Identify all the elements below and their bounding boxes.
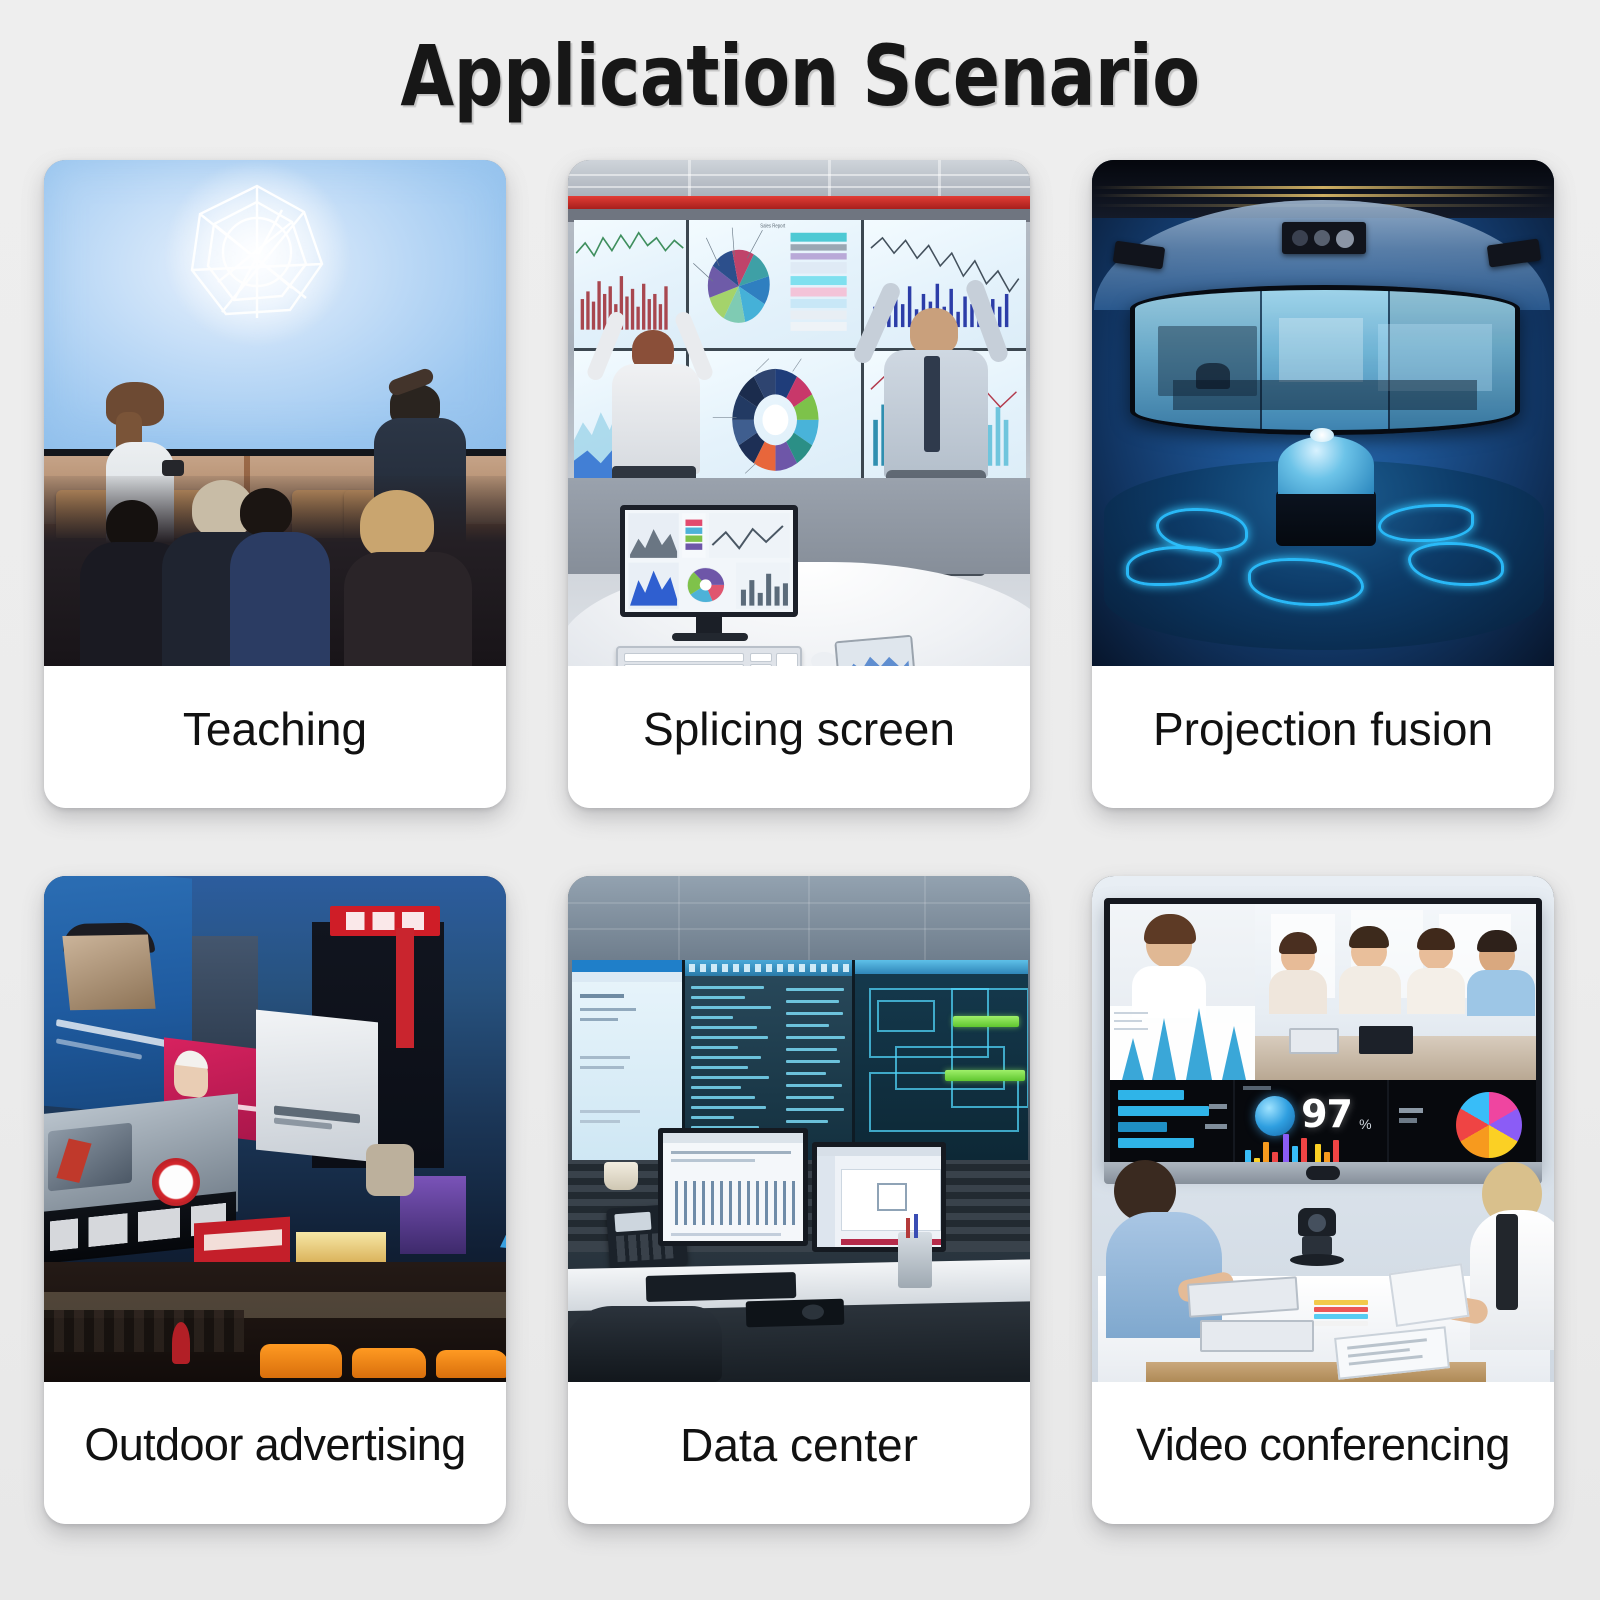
globe-icon: [1255, 1096, 1295, 1136]
svg-text:Sales Report: Sales Report: [760, 223, 786, 229]
pie-chart: [1456, 1092, 1522, 1158]
scenario-card-outdoor-advertising[interactable]: Outdoor advertising: [44, 876, 506, 1524]
mouse-pad: [746, 1299, 845, 1328]
caption-text: Video conferencing: [1102, 1419, 1544, 1487]
caption-text: Outdoor advertising: [54, 1419, 496, 1487]
keyboard: [616, 646, 802, 666]
scenario-card-teaching[interactable]: Teaching: [44, 160, 506, 808]
scenario-row-bottom: Outdoor advertising: [44, 876, 1556, 1524]
card-caption-splicing-screen: Splicing screen: [568, 666, 1030, 808]
times-square-billboards-photo: [44, 876, 506, 1382]
desk-lamp: [604, 1162, 638, 1190]
ceiling-projector-center: [1282, 222, 1366, 254]
billboard-hm: [330, 906, 440, 936]
office-chair: [568, 1306, 722, 1382]
street-clock: [152, 1158, 200, 1206]
video-conference-room-photo: 97 %: [1092, 876, 1554, 1382]
caption-text: Teaching: [54, 702, 496, 772]
projection-dome: [1278, 436, 1374, 494]
card-caption-video-conferencing: Video conferencing: [1092, 1382, 1554, 1524]
camera-icon: [1306, 1166, 1340, 1180]
caption-text: Splicing screen: [578, 702, 1020, 772]
video-wall-dashboard-photo: Sales Report: [568, 160, 1030, 666]
scenario-card-projection-fusion[interactable]: Projection fusion: [1092, 160, 1554, 808]
curved-blended-projection-photo: [1092, 160, 1554, 666]
network-operations-center-photo: [568, 876, 1030, 1382]
monitor-left: [658, 1128, 808, 1246]
mouse: [811, 652, 837, 666]
caption-text: Projection fusion: [1102, 702, 1544, 772]
pen-cup: [898, 1232, 932, 1288]
remote-room-tile: [1255, 904, 1536, 1080]
remote-participant-tile: [1110, 904, 1255, 1080]
application-scenario-page: Application Scenario: [0, 0, 1600, 1600]
scenario-grid: Teaching: [44, 160, 1556, 1524]
curved-projection-screen: [1130, 285, 1520, 435]
dashboard-strip: 97 %: [1110, 1080, 1536, 1168]
laptop-center: [1200, 1320, 1314, 1352]
billboard-google-play: [256, 1010, 378, 1163]
card-caption-projection-fusion: Projection fusion: [1092, 666, 1554, 808]
tablet: [834, 635, 915, 666]
page-title: Application Scenario: [64, 34, 1536, 118]
card-caption-teaching: Teaching: [44, 666, 506, 808]
wireframe-sphere-icon: [182, 178, 332, 328]
conference-display: 97 %: [1104, 898, 1542, 1168]
scenario-row-top: Teaching: [44, 160, 1556, 808]
desktop-monitor: [620, 505, 798, 617]
card-caption-data-center: Data center: [568, 1382, 1030, 1524]
metric-unit: %: [1359, 1116, 1371, 1132]
metric-value: 97: [1301, 1092, 1352, 1136]
ptz-camera: [1288, 1208, 1346, 1264]
card-caption-outdoor-advertising: Outdoor advertising: [44, 1382, 506, 1524]
scenario-card-splicing-screen[interactable]: Sales Report: [568, 160, 1030, 808]
scenario-card-video-conferencing[interactable]: 97 %: [1092, 876, 1554, 1524]
keyboard: [646, 1272, 797, 1302]
scenario-card-data-center[interactable]: Data center: [568, 876, 1030, 1524]
lecture-hall-projection-photo: [44, 160, 506, 666]
caption-text: Data center: [578, 1418, 1020, 1488]
